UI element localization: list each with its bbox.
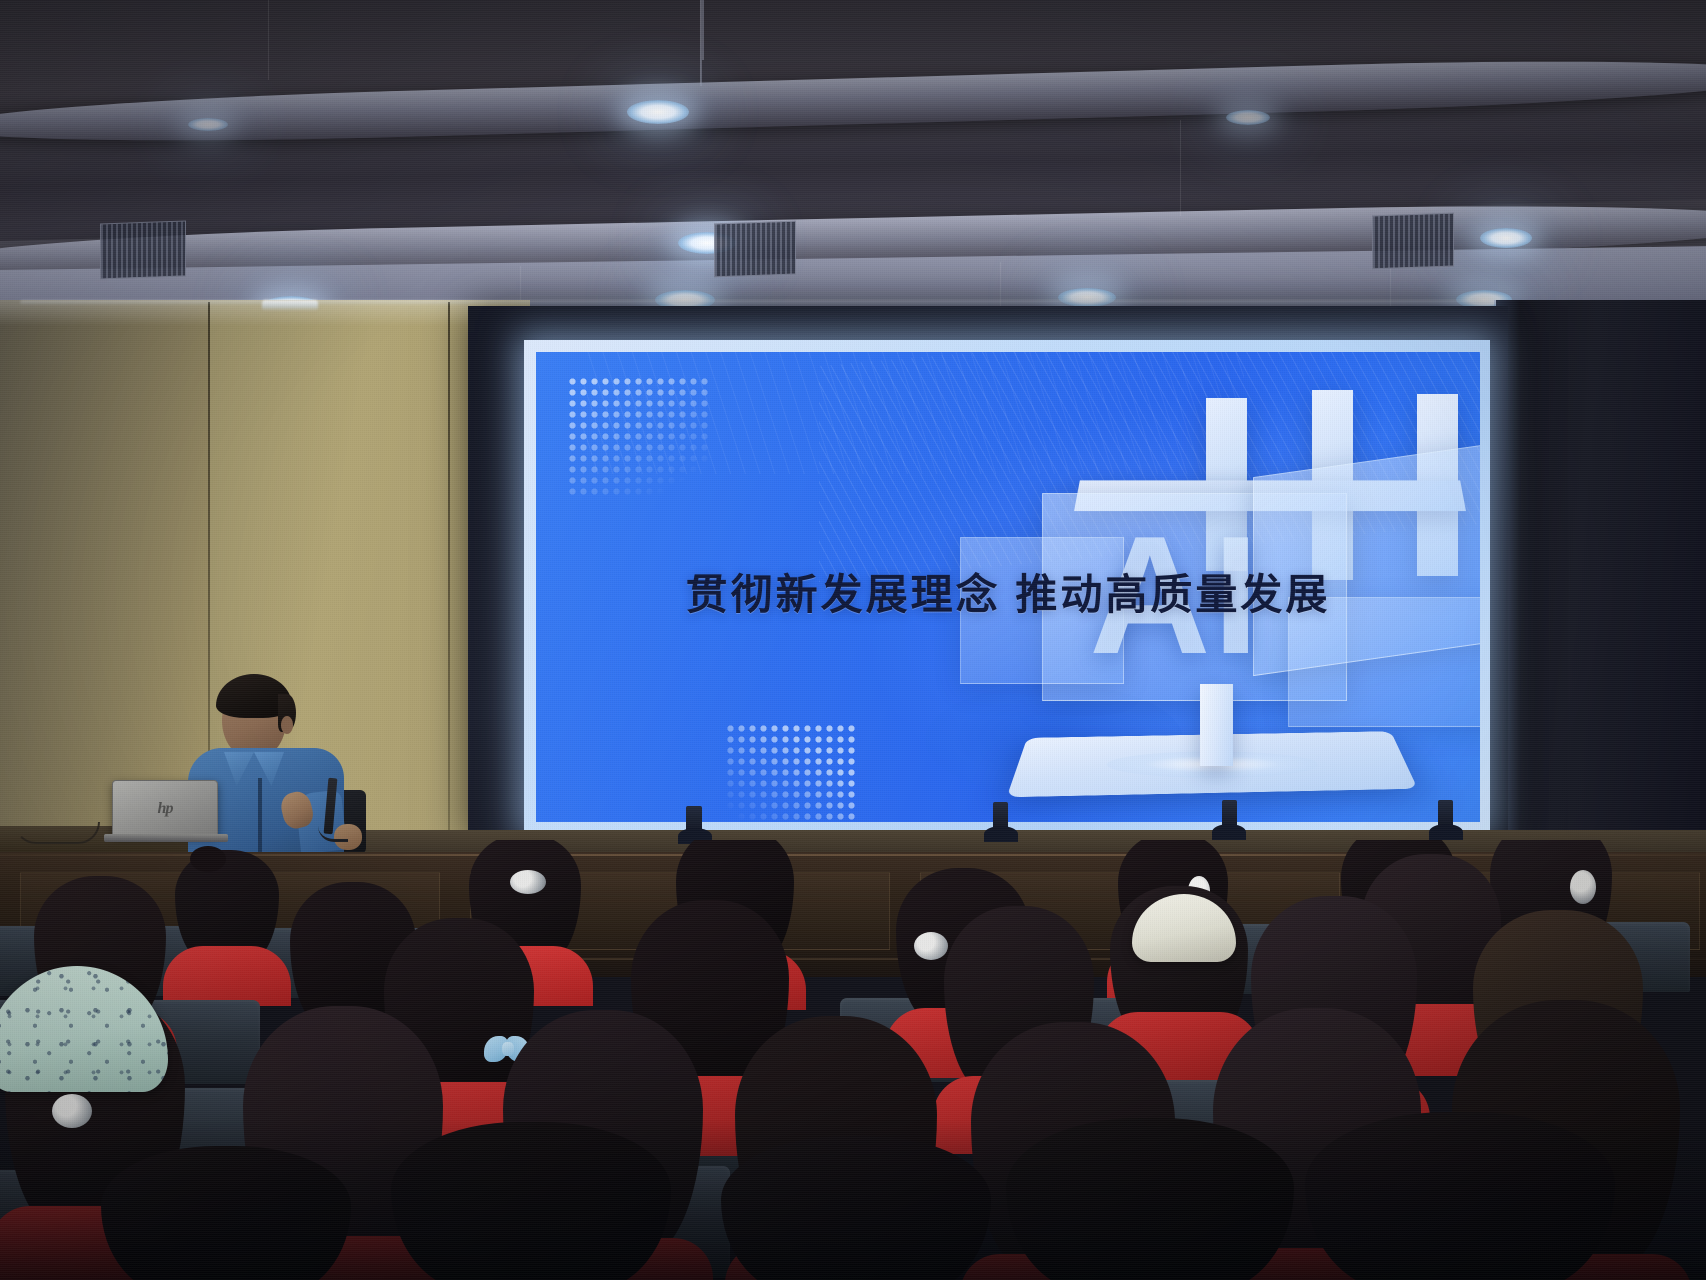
person-hair	[1006, 1118, 1294, 1280]
person-hair	[391, 1122, 671, 1280]
hvac-vent-grille	[714, 221, 796, 278]
ceiling-downlight	[1480, 228, 1532, 248]
slide-dot-grid-top-left	[567, 376, 709, 498]
wall-right	[1496, 300, 1706, 860]
ceiling-hanger	[702, 0, 704, 60]
person-hair	[1305, 1112, 1615, 1280]
presenter-ear	[281, 716, 293, 734]
ceiling-downlight	[1226, 110, 1270, 125]
audience-person	[386, 1122, 676, 1280]
stage-mic-base	[1212, 824, 1246, 840]
stage-mic-base	[1429, 824, 1463, 840]
hvac-vent-grille	[1372, 213, 1454, 270]
slide-title: 贯彻新发展理念 推动高质量发展	[536, 561, 1480, 622]
laptop: hp	[112, 780, 218, 836]
person-scrunchie	[510, 870, 546, 894]
audience-person	[96, 1146, 356, 1280]
photo-scene: AI 贯彻新发展理念 推动高质量发展 hp	[0, 0, 1706, 1280]
artwork-pedestal-post	[1200, 684, 1232, 766]
ceiling-seam	[268, 0, 269, 80]
audience-person	[716, 1136, 996, 1280]
hp-logo: hp	[158, 800, 173, 818]
wall-seam	[448, 302, 450, 858]
slide-dot-grid-bottom-middle	[725, 723, 857, 822]
mint-patterned-cap	[0, 966, 168, 1092]
person-hair	[721, 1136, 991, 1280]
ceiling-seam	[1180, 120, 1181, 216]
wall-cove-light	[20, 300, 1480, 305]
audience-person	[1300, 1112, 1620, 1280]
audience	[0, 840, 1706, 1280]
presentation-slide: AI 贯彻新发展理念 推动高质量发展	[536, 352, 1480, 822]
ceiling-downlight	[627, 100, 689, 124]
person-hair-tie	[1570, 870, 1596, 904]
ceiling	[0, 0, 1706, 340]
ceiling-downlight	[188, 118, 228, 131]
audience-person	[172, 850, 282, 980]
person-hair-bun	[190, 846, 226, 872]
person-scrunchie	[52, 1094, 92, 1128]
audience-person	[1000, 1118, 1300, 1280]
hvac-vent-grille	[100, 220, 186, 279]
person-hair	[101, 1146, 351, 1280]
